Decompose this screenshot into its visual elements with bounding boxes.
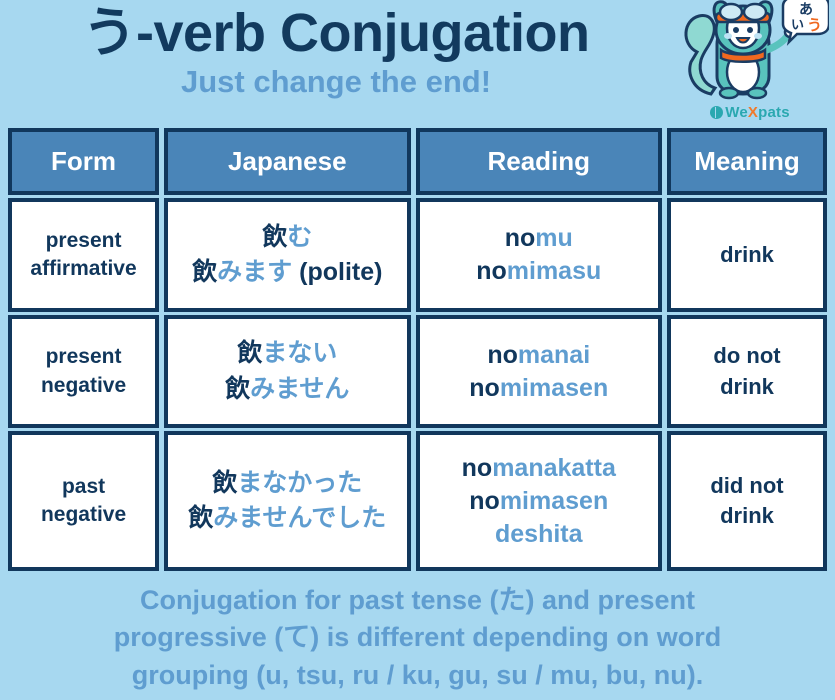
cell-meaning: do notdrink xyxy=(667,315,827,428)
reading-text: nomanakattanomimasendeshita xyxy=(462,452,616,551)
cell-japanese: 飲む飲みます (polite) xyxy=(164,198,410,312)
column-header-label: Japanese xyxy=(228,146,347,177)
svg-text:い: い xyxy=(791,18,804,33)
meaning-text: do notdrink xyxy=(713,341,780,402)
brand-wordmark: WeXpats xyxy=(671,104,829,121)
page-header: う-verb Conjugation Just change the end! xyxy=(0,0,835,126)
table-header-row: Form Japanese Reading Meaning xyxy=(8,128,827,195)
footer-note-text: Conjugation for past tense (た) and prese… xyxy=(18,582,817,694)
reading-text: nomanainomimasen xyxy=(469,339,608,405)
table-row: presentnegative 飲まない飲みません nomanainomimas… xyxy=(8,315,827,428)
cell-reading: nomanakattanomimasendeshita xyxy=(416,431,662,571)
column-header-japanese: Japanese xyxy=(164,128,410,195)
cell-japanese: 飲まなかった飲みませんでした xyxy=(164,431,410,571)
reading-text: nomunomimasu xyxy=(476,222,601,288)
column-header-label: Form xyxy=(51,146,116,177)
japanese-text: 飲まなかった飲みませんでした xyxy=(188,466,386,537)
meaning-text: did notdrink xyxy=(710,471,783,532)
title-block: う-verb Conjugation Just change the end! xyxy=(0,0,672,126)
page-subtitle: Just change the end! xyxy=(0,64,672,100)
brand-name-suffix: pats xyxy=(758,104,790,121)
footer-note: Conjugation for past tense (た) and prese… xyxy=(0,582,835,694)
column-header-form: Form xyxy=(8,128,159,195)
meaning-text: drink xyxy=(720,240,774,270)
cell-japanese: 飲まない飲みません xyxy=(164,315,410,428)
column-header-label: Meaning xyxy=(694,146,799,177)
form-text: presentnegative xyxy=(41,343,126,400)
globe-icon xyxy=(710,106,723,119)
cell-reading: nomanainomimasen xyxy=(416,315,662,428)
cell-form: presentnegative xyxy=(8,315,159,428)
cell-form: presentaffirmative xyxy=(8,198,159,312)
squirrel-mascot-icon: あ い う xyxy=(671,0,829,106)
cell-meaning: did notdrink xyxy=(667,431,827,571)
svg-text:う: う xyxy=(807,16,822,34)
japanese-text: 飲まない飲みません xyxy=(225,336,349,407)
cell-form: pastnegative xyxy=(8,431,159,571)
japanese-text: 飲む飲みます (polite) xyxy=(192,220,382,291)
form-text: pastnegative xyxy=(41,473,126,530)
table-row: pastnegative 飲まなかった飲みませんでした nomanakattan… xyxy=(8,431,827,571)
column-header-reading: Reading xyxy=(416,128,662,195)
cell-meaning: drink xyxy=(667,198,827,312)
brand-name-prefix: We xyxy=(725,104,748,121)
conjugation-table: Form Japanese Reading Meaning presentaff… xyxy=(8,128,827,574)
table-row: presentaffirmative 飲む飲みます (polite) nomun… xyxy=(8,198,827,312)
column-header-meaning: Meaning xyxy=(667,128,827,195)
form-text: presentaffirmative xyxy=(30,227,136,284)
column-header-label: Reading xyxy=(487,146,590,177)
brand-logo: あ い う WeXpats xyxy=(671,0,829,126)
brand-name-x: X xyxy=(748,104,758,121)
page-title: う-verb Conjugation xyxy=(0,2,672,66)
cell-reading: nomunomimasu xyxy=(416,198,662,312)
